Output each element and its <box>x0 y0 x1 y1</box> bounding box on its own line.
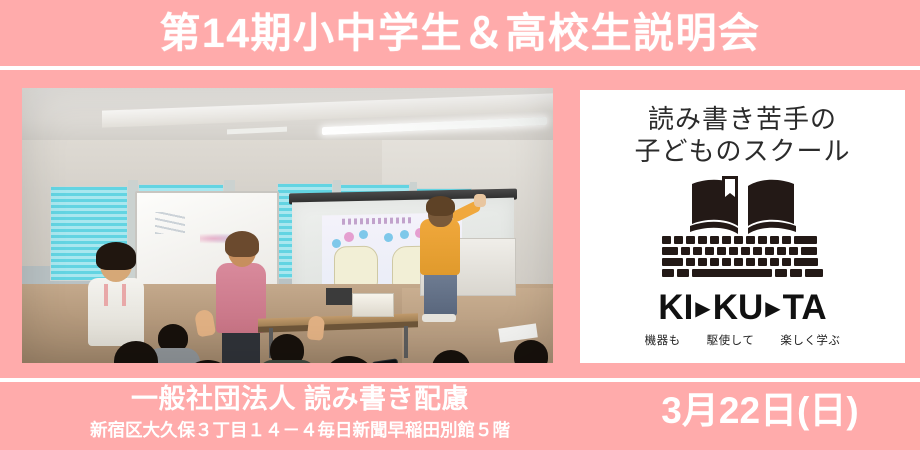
page-title: 第14期小中学生＆高校生説明会 <box>159 13 760 54</box>
keyboard-row <box>662 258 824 266</box>
divider-top <box>0 66 920 70</box>
event-poster: 第14期小中学生＆高校生説明会 <box>0 0 920 450</box>
triangle-separator-icon: ▶ <box>765 299 780 319</box>
keyboard-row <box>662 247 824 255</box>
organization-block: 一般社団法人 読み書き配慮 新宿区大久保３丁目１４－４毎日新聞早稲田別館５階 <box>0 384 600 442</box>
open-book-icon <box>688 176 798 238</box>
classroom-photo <box>22 88 553 363</box>
photo-vignette <box>22 88 553 363</box>
brand-part-ku: KU <box>713 290 764 325</box>
brand-tagline-word-2: 駆使して <box>707 332 755 348</box>
logo-tagline-line2: 子どものスクール <box>634 136 850 168</box>
organization-name: 一般社団法人 読み書き配慮 <box>131 384 469 415</box>
footer-band: 一般社団法人 読み書き配慮 新宿区大久保３丁目１４－４毎日新聞早稲田別館５階 3… <box>0 382 920 450</box>
logo-tagline-line1: 読み書き苦手の <box>648 104 837 136</box>
keyboard-row <box>662 236 824 244</box>
brand-part-ki: KI <box>658 290 693 325</box>
brand-tagline: 機器も 駆使して 楽しく学ぶ <box>645 332 841 348</box>
brand-tagline-word-1: 機器も <box>645 332 681 348</box>
organization-address: 新宿区大久保３丁目１４－４毎日新聞早稲田別館５階 <box>90 417 510 442</box>
header-band: 第14期小中学生＆高校生説明会 <box>0 0 920 67</box>
brand-tagline-word-3: 楽しく学ぶ <box>780 332 840 348</box>
triangle-separator-icon: ▶ <box>695 299 710 319</box>
keyboard-icon <box>662 236 824 280</box>
brand-part-ta: TA <box>783 290 827 325</box>
keyboard-row <box>662 269 824 277</box>
brand-name: KI ▶ KU ▶ TA <box>658 290 826 325</box>
book-keyboard-icon <box>658 176 828 286</box>
event-date: 3月22日(日) <box>600 392 920 429</box>
school-logo-card: 読み書き苦手の 子どものスクール <box>580 90 905 363</box>
